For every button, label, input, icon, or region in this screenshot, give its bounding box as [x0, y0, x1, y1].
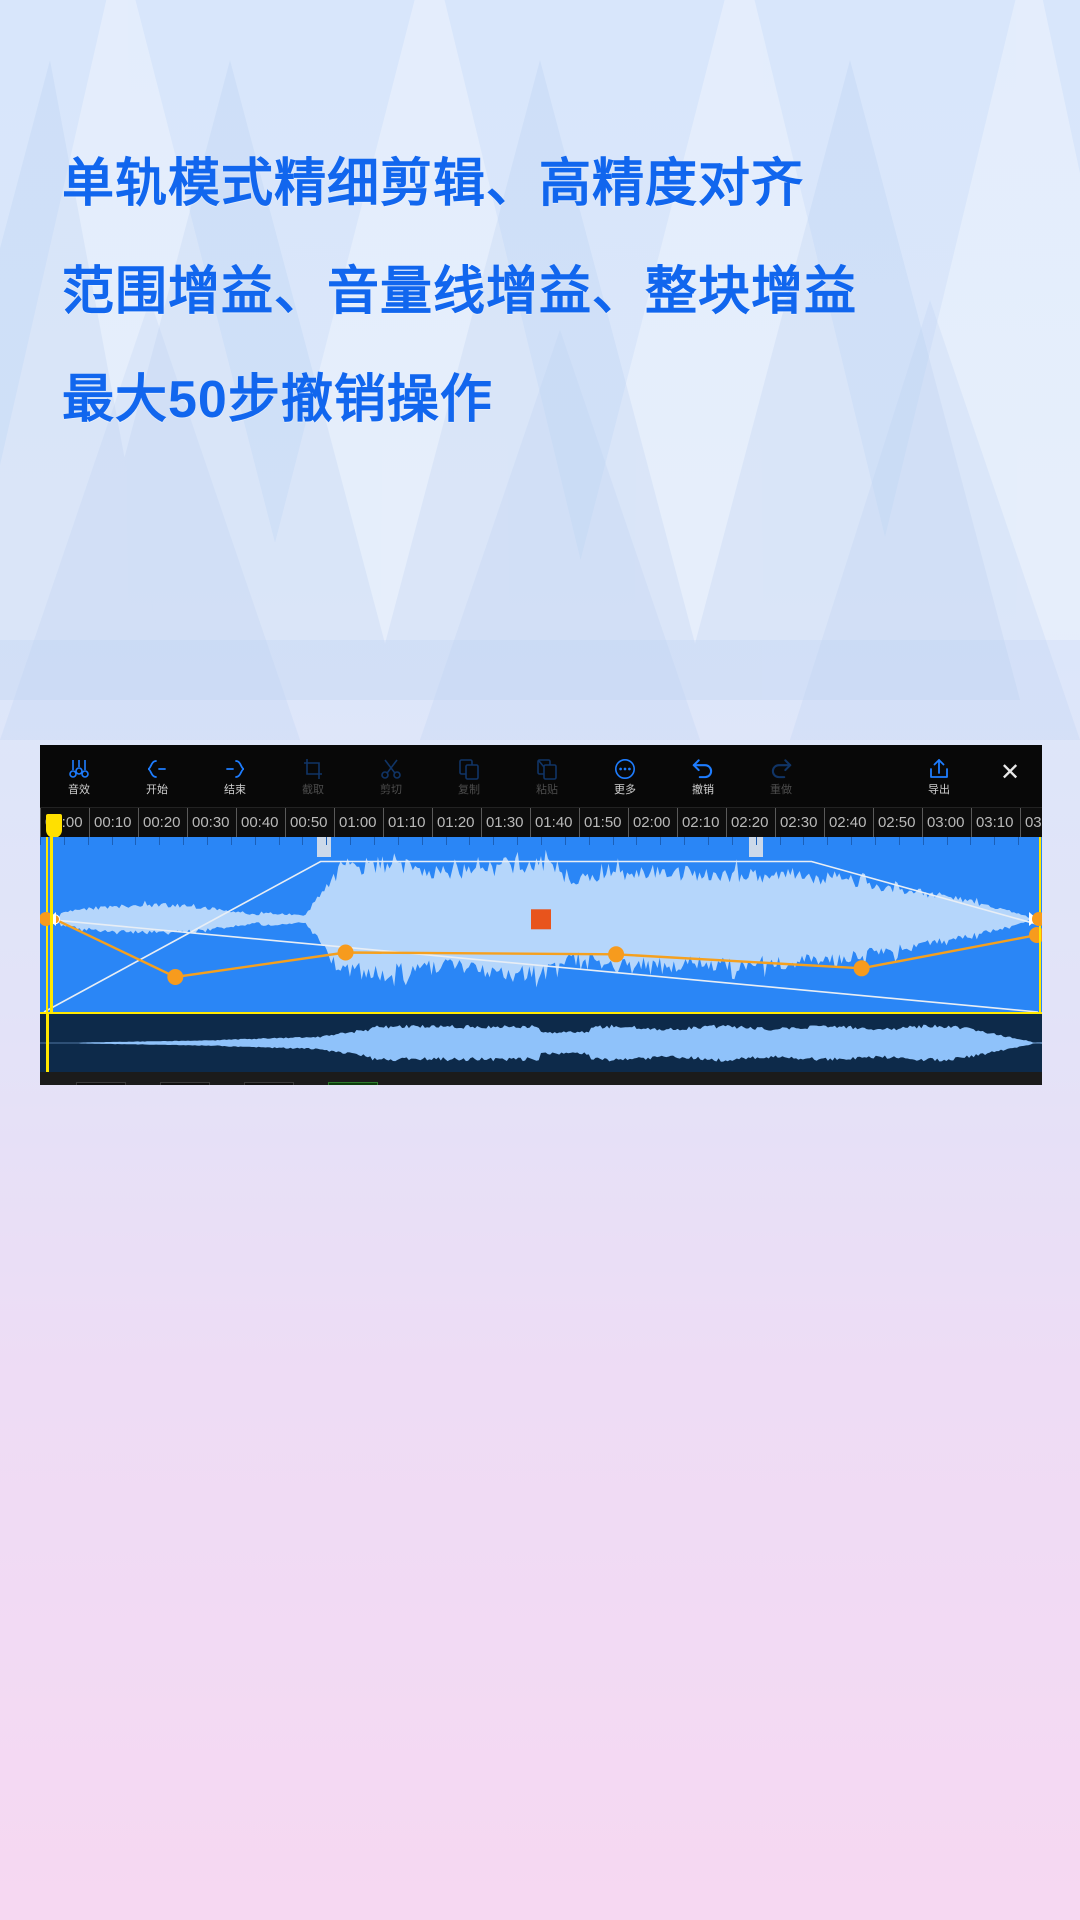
ruler-tick: 01:30 — [481, 808, 524, 837]
waveform-minitick — [112, 837, 113, 845]
waveform-minitick — [64, 837, 65, 845]
selection-handle-left[interactable] — [40, 909, 57, 929]
ruler-tick: 00:30 — [187, 808, 230, 837]
audio-editor-app: 音效 开始 结束 — [40, 745, 1042, 1085]
fast-forward-button[interactable] — [160, 1082, 210, 1085]
ruler-tick: 00:50 — [285, 808, 328, 837]
overview-strip[interactable] — [40, 1012, 1042, 1072]
ruler-tick: 00:10 — [89, 808, 132, 837]
waveform-minitick — [255, 837, 256, 845]
ruler-tick: 02:10 — [677, 808, 720, 837]
waveform-minitick — [708, 837, 709, 845]
toolbar-label: 更多 — [614, 785, 636, 796]
stop-button[interactable] — [244, 1082, 294, 1085]
waveform-minitick — [732, 837, 733, 845]
toolbar-item-undo[interactable]: 撤销 — [664, 745, 742, 807]
waveform-minitick — [279, 837, 280, 845]
waveform-minitick — [183, 837, 184, 845]
ruler-tick: 01:10 — [383, 808, 426, 837]
timeline-ruler[interactable]: 00:0000:1000:2000:3000:4000:5001:0001:10… — [40, 807, 1042, 837]
waveform-minitick — [446, 837, 447, 845]
waveform-minitick — [565, 837, 566, 845]
toolbar-item-cut[interactable]: 剪切 — [352, 745, 430, 807]
ruler-tick: 01:50 — [579, 808, 622, 837]
ruler-tick: 02:20 — [726, 808, 769, 837]
sliders-icon — [67, 756, 91, 782]
waveform-minitick — [517, 837, 518, 845]
toolbar-item-copy[interactable]: 复制 — [430, 745, 508, 807]
waveform-minitick — [135, 837, 136, 845]
ruler-tick: 00:40 — [236, 808, 279, 837]
crop-icon — [301, 756, 325, 782]
waveform-minitick — [231, 837, 232, 845]
selection-handle-right[interactable] — [1028, 909, 1042, 929]
toolbar-label: 开始 — [146, 785, 168, 796]
toolbar-item-sound-effects[interactable]: 音效 — [40, 745, 118, 807]
transport-bar: 00:00:01.667 — [40, 1072, 1042, 1085]
scissors-icon — [379, 756, 403, 782]
toolbar-label: 剪切 — [380, 785, 402, 796]
redo-arrow-icon — [768, 756, 794, 782]
waveform-minitick — [851, 837, 852, 845]
handle-arrow-icon — [1028, 910, 1042, 928]
toolbar-item-paste[interactable]: 粘贴 — [508, 745, 586, 807]
waveform-minitick — [613, 837, 614, 845]
toolbar-label: 截取 — [302, 785, 324, 796]
toolbar-item-export[interactable]: 导出 — [900, 745, 978, 807]
waveform-minitick — [589, 837, 590, 845]
waveform-minitick — [541, 837, 542, 845]
waveform-minitick — [827, 837, 828, 845]
toolbar-item-mark-out[interactable]: 结束 — [196, 745, 274, 807]
toolbar-item-more[interactable]: 更多 — [586, 745, 664, 807]
headline-block: 单轨模式精细剪辑、高精度对齐 范围增益、音量线增益、整块增益 最大50步撤销操作 — [62, 130, 962, 454]
waveform-minitick — [947, 837, 948, 845]
waveform-minitick — [803, 837, 804, 845]
mark-out-icon — [223, 756, 247, 782]
waveform-minitick — [923, 837, 924, 845]
waveform-minitick — [302, 837, 303, 845]
toolbar-item-redo[interactable]: 重做 — [742, 745, 820, 807]
handle-arrow-icon — [40, 910, 57, 928]
waveform-minitick — [88, 837, 89, 845]
ruler-tick: 02:40 — [824, 808, 867, 837]
ruler-tick: 01:20 — [432, 808, 475, 837]
headline-line-2: 范围增益、音量线增益、整块增益 — [62, 238, 962, 346]
ruler-tick: 02:00 — [628, 808, 671, 837]
more-dots-icon — [613, 756, 637, 782]
toolbar-spacer — [820, 745, 900, 807]
waveform-minitick — [398, 837, 399, 845]
waveform-panel[interactable] — [40, 837, 1042, 1012]
play-button[interactable] — [328, 1082, 378, 1085]
waveform-minitick — [756, 837, 757, 845]
editor-toolbar: 音效 开始 结束 — [40, 745, 1042, 807]
paste-icon — [535, 756, 559, 782]
waveform-minitick — [780, 837, 781, 845]
waveform-minitick — [374, 837, 375, 845]
ruler-tick: 00:20 — [138, 808, 181, 837]
toolbar-label: 撤销 — [692, 785, 714, 796]
waveform-minitick — [636, 837, 637, 845]
overview-waveform — [40, 1014, 1042, 1072]
toolbar-item-crop[interactable]: 截取 — [274, 745, 352, 807]
toolbar-label: 复制 — [458, 785, 480, 796]
toolbar-label: 粘贴 — [536, 785, 558, 796]
playhead-flag[interactable] — [46, 814, 62, 837]
waveform-minitick — [350, 837, 351, 845]
undo-arrow-icon — [690, 756, 716, 782]
ruler-tick: 03:10 — [971, 808, 1014, 837]
ruler-tick: 02:30 — [775, 808, 818, 837]
waveform-minitick — [970, 837, 971, 845]
toolbar-label: 导出 — [928, 785, 950, 796]
copy-icon — [457, 756, 481, 782]
waveform-minitick — [207, 837, 208, 845]
waveform-minitick — [159, 837, 160, 845]
toolbar-label: 音效 — [68, 785, 90, 796]
waveform-minitick — [493, 837, 494, 845]
waveform-minitick — [1018, 837, 1019, 845]
overview-selection-marker[interactable] — [46, 1014, 49, 1072]
waveform-minitick — [326, 837, 327, 845]
ruler-tick: 01:00 — [334, 808, 377, 837]
scroll-nub[interactable] — [317, 837, 331, 857]
waveform-minitick — [875, 837, 876, 845]
mark-in-icon — [145, 756, 169, 782]
export-upload-icon — [927, 756, 951, 782]
rewind-button[interactable] — [76, 1082, 126, 1085]
close-icon[interactable]: ✕ — [978, 745, 1042, 807]
headline-line-3: 最大50步撤销操作 — [62, 346, 962, 454]
playhead[interactable] — [50, 837, 53, 1012]
toolbar-item-mark-in[interactable]: 开始 — [118, 745, 196, 807]
waveform-minitick — [422, 837, 423, 845]
toolbar-label: 结束 — [224, 785, 246, 796]
ruler-tick: 03:2 — [1020, 808, 1042, 837]
headline-line-1: 单轨模式精细剪辑、高精度对齐 — [62, 130, 962, 238]
waveform-minitick — [469, 837, 470, 845]
waveform-minitick — [684, 837, 685, 845]
ruler-tick: 01:40 — [530, 808, 573, 837]
toolbar-label: 重做 — [770, 785, 792, 796]
waveform-minitick — [899, 837, 900, 845]
waveform-graphic — [40, 837, 1042, 1012]
ruler-tick: 03:00 — [922, 808, 965, 837]
waveform-minitick — [40, 837, 41, 845]
waveform-minitick — [660, 837, 661, 845]
waveform-minitick — [994, 837, 995, 845]
ruler-tick: 02:50 — [873, 808, 916, 837]
